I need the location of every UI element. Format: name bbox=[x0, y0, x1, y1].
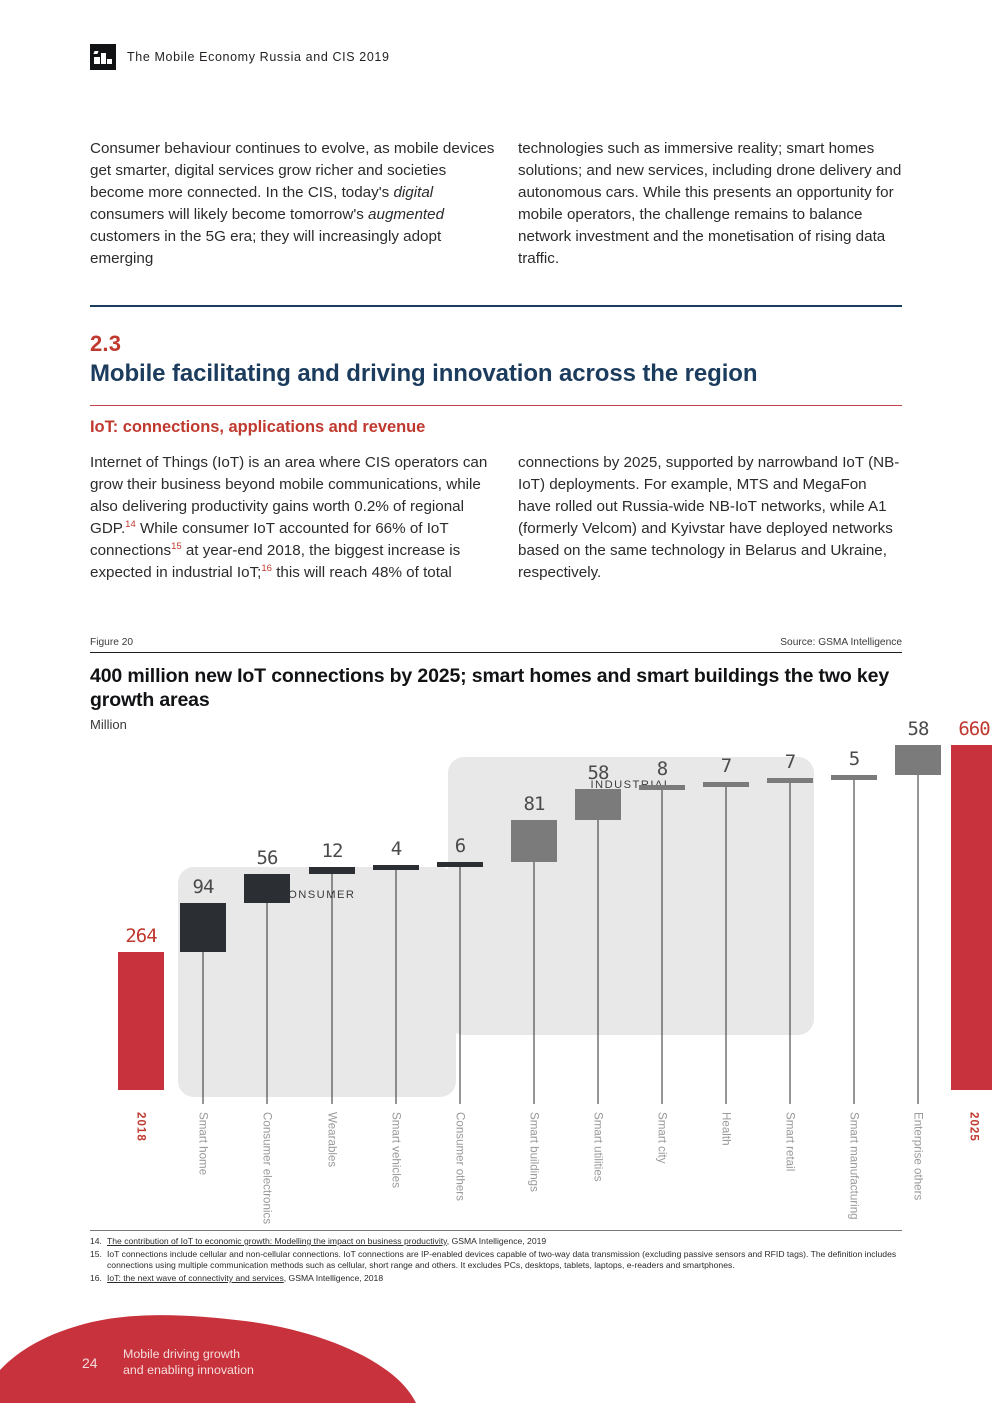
iot-column-left: Internet of Things (IoT) is an area wher… bbox=[90, 452, 496, 585]
chart-bar-rect bbox=[180, 903, 226, 952]
footnote-text: IoT: the next wave of connectivity and s… bbox=[107, 1273, 902, 1285]
figure-divider bbox=[90, 652, 902, 653]
intro-left-part3: customers in the 5G era; they will incre… bbox=[90, 228, 441, 267]
chart-axis-label: Consumer electronics bbox=[261, 1112, 274, 1224]
chart-axis-label: Smart home bbox=[197, 1112, 210, 1175]
chart-axis-label: Enterprise others bbox=[912, 1112, 925, 1200]
figure-label: Figure 20 bbox=[90, 637, 133, 648]
footnote-ref-14[interactable]: 14 bbox=[125, 519, 136, 530]
chart-axis-label: Health bbox=[720, 1112, 733, 1146]
chart-bar-value: 660 bbox=[958, 718, 989, 740]
gsma-logo-icon bbox=[90, 44, 116, 70]
chart-bar-stem bbox=[854, 780, 855, 1104]
intro-column-left: Consumer behaviour continues to evolve, … bbox=[90, 138, 496, 271]
footnote-item: 16.IoT: the next wave of connectivity an… bbox=[90, 1273, 902, 1285]
chart-group-band-industrial: INDUSTRIAL bbox=[448, 757, 814, 1035]
running-head: The Mobile Economy Russia and CIS 2019 bbox=[90, 44, 390, 70]
chart-bar-value: 4 bbox=[391, 838, 401, 860]
chart-bar-stem bbox=[534, 862, 535, 1104]
chart-axis-label: Consumer others bbox=[454, 1112, 467, 1201]
chart-bar-2018: 2642018 bbox=[118, 745, 164, 1235]
footnote-link[interactable]: IoT: the next wave of connectivity and s… bbox=[107, 1273, 284, 1283]
chart-bar-value: 58 bbox=[588, 762, 609, 784]
footnote-text: The contribution of IoT to economic grow… bbox=[107, 1236, 902, 1248]
chart-bar-stem bbox=[726, 787, 727, 1104]
chart-bar-rect bbox=[244, 874, 290, 903]
chart-bar-value: 81 bbox=[524, 793, 545, 815]
chart-bar-enterprise-others: 58Enterprise others bbox=[895, 745, 941, 1235]
intro-column-right: technologies such as immersive reality; … bbox=[496, 138, 902, 271]
chart-bar-rect bbox=[951, 745, 992, 1090]
chart-bar-smart-retail: 7Smart retail bbox=[767, 745, 813, 1235]
section-divider-top bbox=[90, 305, 902, 307]
chart-bar-smart-city: 8Smart city bbox=[639, 745, 685, 1235]
chart-axis-label: Smart vehicles bbox=[390, 1112, 403, 1188]
iot-column-right: connections by 2025, supported by narrow… bbox=[496, 452, 902, 585]
footnote-ref-15[interactable]: 15 bbox=[171, 541, 182, 552]
waterfall-chart: CONSUMERINDUSTRIAL264201894Smart home56C… bbox=[90, 745, 902, 1235]
chart-bar-rect bbox=[118, 952, 164, 1090]
chart-bar-value: 5 bbox=[849, 748, 859, 770]
chart-bar-health: 7Health bbox=[703, 745, 749, 1235]
chart-axis-label: Smart city bbox=[656, 1112, 669, 1164]
intro-left-part2: consumers will likely become tomorrow's bbox=[90, 206, 368, 223]
chart-bar-smart-vehicles: 4Smart vehicles bbox=[373, 745, 419, 1235]
chart-bar-stem bbox=[662, 790, 663, 1104]
chart-bar-smart-manufacturing: 5Smart manufacturing bbox=[831, 745, 877, 1235]
intro-left-part1: Consumer behaviour continues to evolve, … bbox=[90, 140, 494, 201]
iot-paragraph-left: Internet of Things (IoT) is an area wher… bbox=[90, 452, 496, 585]
intro-left-emph2: augmented bbox=[368, 206, 444, 223]
chart-bar-rect bbox=[511, 820, 557, 862]
footnote-item: 14.The contribution of IoT to economic g… bbox=[90, 1236, 902, 1248]
iot-columns: Internet of Things (IoT) is an area wher… bbox=[90, 452, 902, 585]
chart-bar-value: 7 bbox=[785, 751, 795, 773]
chart-bar-stem bbox=[790, 783, 791, 1104]
intro-paragraph-right: technologies such as immersive reality; … bbox=[518, 138, 902, 271]
chart-bar-smart-buildings: 81Smart buildings bbox=[511, 745, 557, 1235]
footnote-number: 16. bbox=[90, 1273, 107, 1285]
figure-source: Source: GSMA Intelligence bbox=[780, 637, 902, 648]
chart-axis-label: Smart utilities bbox=[592, 1112, 605, 1182]
chart-bar-smart-utilities: 58Smart utilities bbox=[575, 745, 621, 1235]
chart-bar-stem bbox=[203, 952, 204, 1104]
footnote-item: 15.IoT connections include cellular and … bbox=[90, 1249, 902, 1272]
chart-bar-stem bbox=[918, 775, 919, 1104]
footnote-number: 15. bbox=[90, 1249, 107, 1272]
intro-columns: Consumer behaviour continues to evolve, … bbox=[90, 138, 902, 271]
chart-bar-value: 58 bbox=[908, 718, 929, 740]
footnotes-list: 14.The contribution of IoT to economic g… bbox=[90, 1236, 902, 1285]
chart-bar-value: 8 bbox=[657, 758, 667, 780]
chart-bar-rect bbox=[895, 745, 941, 775]
iot-left-d: this will reach 48% of total bbox=[272, 564, 452, 581]
chart-axis-label: 2018 bbox=[135, 1112, 148, 1142]
footer-text-line1: Mobile driving growth bbox=[123, 1347, 254, 1363]
page-number: 24 bbox=[82, 1355, 98, 1371]
subsection-title: IoT: connections, applications and reven… bbox=[90, 418, 425, 437]
chart-bar-value: 6 bbox=[455, 835, 465, 857]
footnotes-divider bbox=[90, 1230, 902, 1231]
chart-bar-rect bbox=[575, 789, 621, 819]
subsection-divider bbox=[90, 405, 902, 406]
figure-unit-label: Million bbox=[90, 717, 127, 732]
running-head-title: The Mobile Economy Russia and CIS 2019 bbox=[127, 50, 390, 64]
chart-bar-consumer-electronics: 56Consumer electronics bbox=[244, 745, 290, 1235]
chart-bar-stem bbox=[267, 903, 268, 1104]
chart-bar-value: 7 bbox=[721, 755, 731, 777]
iot-paragraph-right: connections by 2025, supported by narrow… bbox=[518, 452, 902, 585]
chart-axis-label: Smart retail bbox=[784, 1112, 797, 1171]
chart-bar-value: 94 bbox=[193, 876, 214, 898]
chart-bar-stem bbox=[460, 867, 461, 1104]
chart-bar-consumer-others: 6Consumer others bbox=[437, 745, 483, 1235]
section-number: 2.3 bbox=[90, 331, 121, 357]
footer-text-line2: and enabling innovation bbox=[123, 1363, 254, 1379]
chart-bar-stem bbox=[598, 820, 599, 1104]
footer-section-text: Mobile driving growth and enabling innov… bbox=[123, 1347, 254, 1378]
chart-group-label: INDUSTRIAL bbox=[448, 779, 814, 791]
intro-paragraph-left: Consumer behaviour continues to evolve, … bbox=[90, 138, 496, 271]
chart-axis-label: 2025 bbox=[968, 1112, 981, 1142]
chart-bar-smart-home: 94Smart home bbox=[180, 745, 226, 1235]
document-page: The Mobile Economy Russia and CIS 2019 C… bbox=[0, 0, 992, 1403]
footnote-number: 14. bbox=[90, 1236, 107, 1248]
section-title: Mobile facilitating and driving innovati… bbox=[90, 360, 757, 388]
chart-axis-label: Wearables bbox=[326, 1112, 339, 1167]
chart-bar-2025: 6602025 bbox=[951, 745, 992, 1235]
chart-bar-value: 12 bbox=[322, 840, 343, 862]
footnote-text: IoT connections include cellular and non… bbox=[107, 1249, 902, 1272]
chart-bar-stem bbox=[396, 870, 397, 1104]
chart-axis-label: Smart manufacturing bbox=[848, 1112, 861, 1220]
footnote-link[interactable]: The contribution of IoT to economic grow… bbox=[107, 1236, 447, 1246]
figure-title: 400 million new IoT connections by 2025;… bbox=[90, 664, 890, 712]
chart-bar-value: 264 bbox=[125, 925, 156, 947]
chart-bar-wearables: 12Wearables bbox=[309, 745, 355, 1235]
chart-bar-value: 56 bbox=[257, 847, 278, 869]
chart-axis-label: Smart buildings bbox=[528, 1112, 541, 1192]
intro-left-emph1: digital bbox=[393, 184, 433, 201]
footnote-ref-16[interactable]: 16 bbox=[261, 563, 272, 574]
chart-bar-stem bbox=[332, 874, 333, 1104]
